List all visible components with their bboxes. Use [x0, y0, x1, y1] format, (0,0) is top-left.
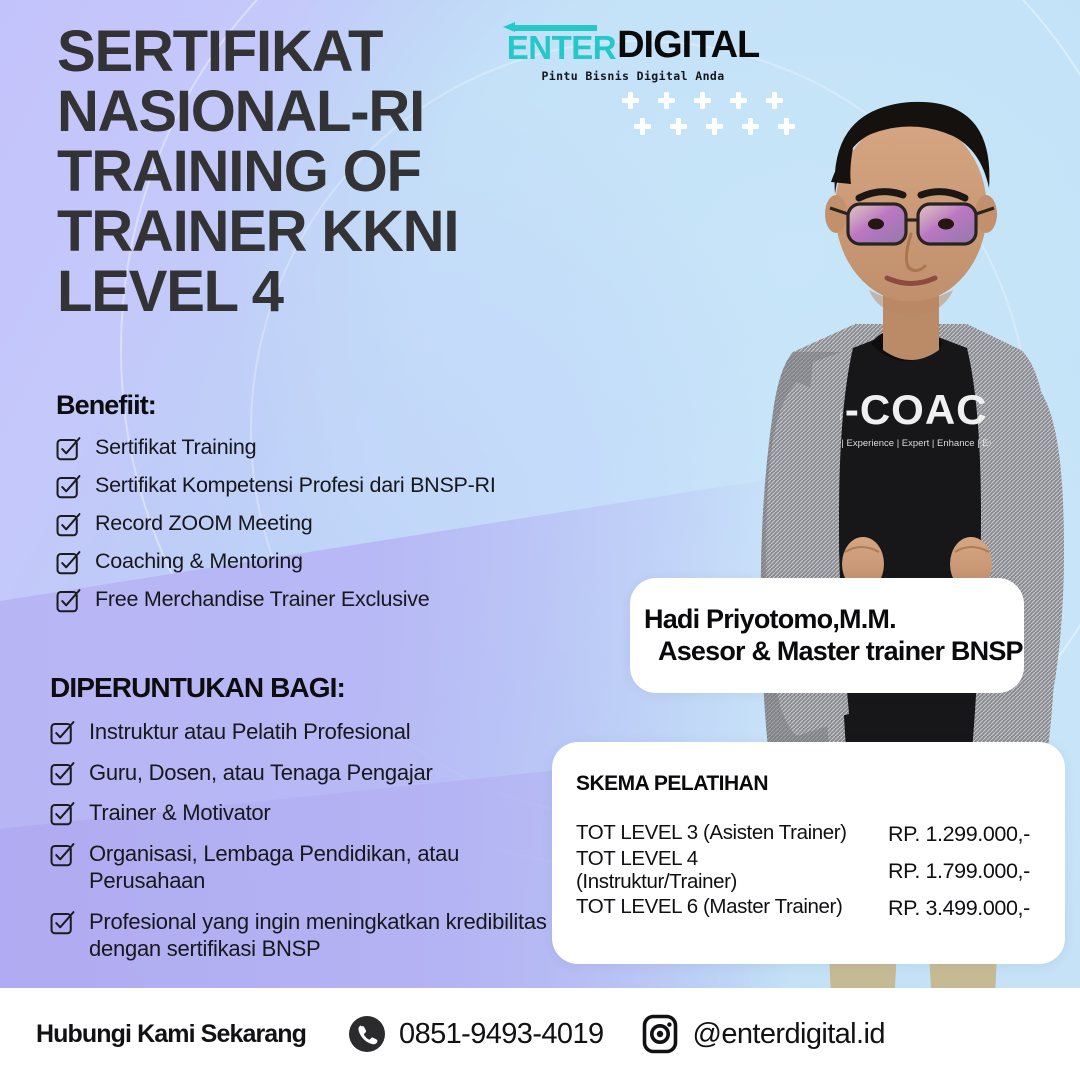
headline-line-5: LEVEL 4 [57, 262, 617, 322]
target-list: Instruktur atau Pelatih Profesional Guru… [50, 718, 580, 963]
table-row: TOT LEVEL 3 (Asisten Trainer) RP. 1.299.… [576, 822, 1043, 848]
checkbox-checked-icon [50, 720, 75, 745]
logo-tagline: Pintu Bisnis Digital Anda [508, 69, 758, 83]
list-item: Sertifikat Training [56, 434, 626, 461]
price-label: TOT LEVEL 3 (Asisten Trainer) [576, 822, 884, 848]
plus-icon [658, 92, 675, 109]
checkbox-checked-icon [56, 436, 81, 461]
benefit-title: Benefiit: [56, 390, 626, 421]
price-label: TOT LEVEL 6 (Master Trainer) [576, 896, 884, 922]
list-item: Coaching & Mentoring [56, 548, 626, 575]
list-item-label: Free Merchandise Trainer Exclusive [95, 586, 429, 613]
headline-line-2: NASIONAL-RI [57, 82, 617, 142]
price-label-sub: (Instruktur/Trainer) [576, 871, 872, 894]
footer-cta-text: Hubungi Kami Sekarang [36, 1020, 306, 1049]
checkbox-checked-icon [56, 588, 81, 613]
benefit-list: Sertifikat Training Sertifikat Kompetens… [56, 434, 626, 613]
benefit-section: Benefiit: Sertifikat Training Sertifikat… [56, 390, 626, 624]
plus-icon [742, 118, 759, 135]
target-title: DIPERUNTUKAN BAGI: [50, 672, 580, 704]
list-item: Instruktur atau Pelatih Profesional [50, 718, 580, 746]
list-item-label: Sertifikat Kompetensi Profesi dari BNSP-… [95, 472, 496, 499]
list-item-label: Trainer & Motivator [89, 799, 271, 827]
speaker-role: Asesor & Master trainer BNSP [658, 636, 1023, 668]
list-item: Record ZOOM Meeting [56, 510, 626, 537]
logo-arrow-icon [503, 22, 597, 32]
plus-row-bottom [634, 118, 795, 135]
poster-canvas: G-COACH Exploration | Experience | Exper… [0, 0, 1080, 1080]
phone-contact[interactable]: 0851-9493-4019 [348, 1015, 603, 1053]
plus-icon [694, 92, 711, 109]
list-item-label: Instruktur atau Pelatih Profesional [89, 718, 410, 746]
plus-decoration-group [622, 92, 795, 135]
price-value: RP. 1.799.000,- [884, 848, 1043, 896]
speaker-name-card: Hadi Priyotomo,M.M. Asesor & Master trai… [630, 578, 1024, 693]
price-value: RP. 1.299.000,- [884, 822, 1043, 848]
plus-row-top [622, 92, 795, 109]
list-item-label: Sertifikat Training [95, 434, 256, 461]
list-item-label: Coaching & Mentoring [95, 548, 303, 575]
phone-icon [348, 1015, 386, 1053]
target-audience-section: DIPERUNTUKAN BAGI: Instruktur atau Pelat… [50, 672, 580, 976]
list-item-label: Profesional yang ingin meningkatkan kred… [89, 908, 580, 963]
list-item-label: Guru, Dosen, atau Tenaga Pengajar [89, 759, 433, 787]
plus-icon [706, 118, 723, 135]
pricing-table: TOT LEVEL 3 (Asisten Trainer) RP. 1.299.… [576, 822, 1043, 922]
instagram-contact[interactable]: @enterdigital.id [640, 1014, 885, 1054]
list-item: Trainer & Motivator [50, 799, 580, 827]
plus-icon [622, 92, 639, 109]
instagram-icon [640, 1014, 680, 1054]
pricing-title: SKEMA PELATIHAN [576, 772, 1043, 796]
plus-icon [634, 118, 651, 135]
speaker-name: Hadi Priyotomo,M.M. [644, 604, 1023, 636]
price-value: RP. 3.499.000,- [884, 896, 1043, 922]
instagram-handle: @enterdigital.id [693, 1018, 885, 1051]
list-item: Sertifikat Kompetensi Profesi dari BNSP-… [56, 472, 626, 499]
logo-digital-text: DIGITAL [617, 26, 759, 64]
checkbox-checked-icon [56, 512, 81, 537]
headline-line-3: TRAINING OF [57, 142, 617, 202]
table-row: TOT LEVEL 6 (Master Trainer) RP. 3.499.0… [576, 896, 1043, 922]
checkbox-checked-icon [50, 801, 75, 826]
plus-icon [670, 118, 687, 135]
phone-number: 0851-9493-4019 [399, 1018, 603, 1051]
list-item: Profesional yang ingin meningkatkan kred… [50, 908, 580, 963]
checkbox-checked-icon [50, 761, 75, 786]
plus-icon [730, 92, 747, 109]
list-item: Free Merchandise Trainer Exclusive [56, 586, 626, 613]
list-item: Organisasi, Lembaga Pendidikan, atau Per… [50, 840, 580, 895]
checkbox-checked-icon [56, 550, 81, 575]
price-label-main: TOT LEVEL 4 [576, 847, 698, 870]
checkbox-checked-icon [50, 910, 75, 935]
checkbox-checked-icon [50, 842, 75, 867]
contact-footer: Hubungi Kami Sekarang 0851-9493-4019 @en… [0, 988, 1080, 1080]
brand-logo: ENTER DIGITAL Pintu Bisnis Digital Anda [508, 22, 758, 83]
headline-line-4: TRAINER KKNI [57, 202, 617, 262]
list-item-label: Organisasi, Lembaga Pendidikan, atau Per… [89, 840, 580, 895]
list-item-label: Record ZOOM Meeting [95, 510, 312, 537]
logo-enter-text: ENTER [507, 29, 616, 66]
price-label: TOT LEVEL 4 (Instruktur/Trainer) [576, 848, 884, 896]
table-row: TOT LEVEL 4 (Instruktur/Trainer) RP. 1.7… [576, 848, 1043, 896]
list-item: Guru, Dosen, atau Tenaga Pengajar [50, 759, 580, 787]
plus-icon [766, 92, 783, 109]
plus-icon [778, 118, 795, 135]
pricing-card: SKEMA PELATIHAN TOT LEVEL 3 (Asisten Tra… [552, 742, 1065, 964]
checkbox-checked-icon [56, 474, 81, 499]
